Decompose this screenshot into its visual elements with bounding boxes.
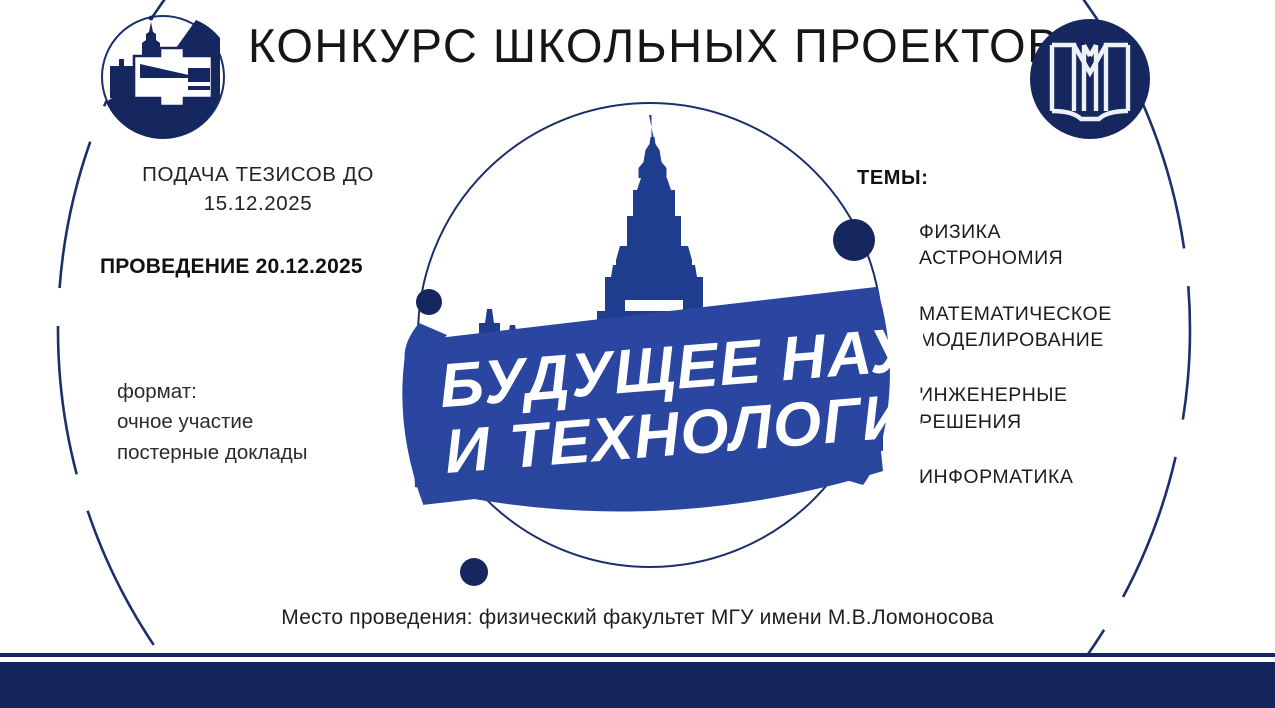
topics-list: ФИЗИКА АСТРОНОМИЯ МАТЕМАТИЧЕСКОЕ МОДЕЛИР… (919, 219, 1199, 490)
topic-line: АСТРОНОМИЯ (919, 245, 1199, 271)
format-option-poster: постерные доклады (117, 441, 308, 464)
physics-faculty-logo (96, 14, 230, 140)
topic-item: ИНЖЕНЕРНЫЕ РЕШЕНИЯ (919, 382, 1199, 435)
venue-caption: Место проведения: физический факультет М… (0, 606, 1275, 630)
topic-line: МАТЕМАТИЧЕСКОЕ (919, 301, 1199, 327)
topic-line: ИНФОРМАТИКА (919, 464, 1199, 490)
page-title: КОНКУРС ШКОЛЬНЫХ ПРОЕКТОВ (248, 18, 1048, 73)
topic-line: РЕШЕНИЯ (919, 409, 1199, 435)
format-option-in-person: очное участие (117, 410, 253, 433)
format-label: формат: (117, 380, 197, 403)
deadline-date: 15.12.2025 (204, 192, 313, 215)
poster-canvas: КОНКУРС ШКОЛЬНЫХ ПРОЕКТОВ (0, 0, 1275, 708)
footer-band (0, 662, 1275, 708)
format-block: формат: очное участие постерные доклады (117, 377, 308, 468)
holding-date: ПРОВЕДЕНИЕ 20.12.2025 (100, 255, 363, 279)
topic-item: МАТЕМАТИЧЕСКОЕ МОДЕЛИРОВАНИЕ (919, 301, 1199, 354)
topic-item: ФИЗИКА АСТРОНОМИЯ (919, 219, 1199, 272)
topic-line: ФИЗИКА (919, 219, 1199, 245)
topic-line: ИНЖЕНЕРНЫЕ (919, 382, 1199, 408)
deadline-block: ПОДАЧА ТЕЗИСОВ ДО 15.12.2025 (108, 160, 408, 218)
central-emblem: БУДУЩЕЕ НАУКИ И ТЕХНОЛОГИЙ (383, 95, 923, 585)
topic-item: ИНФОРМАТИКА (919, 464, 1199, 490)
deadline-label: ПОДАЧА ТЕЗИСОВ ДО (142, 163, 374, 186)
topic-line: МОДЕЛИРОВАНИЕ (919, 327, 1199, 353)
msu-book-m-logo (1029, 18, 1151, 140)
